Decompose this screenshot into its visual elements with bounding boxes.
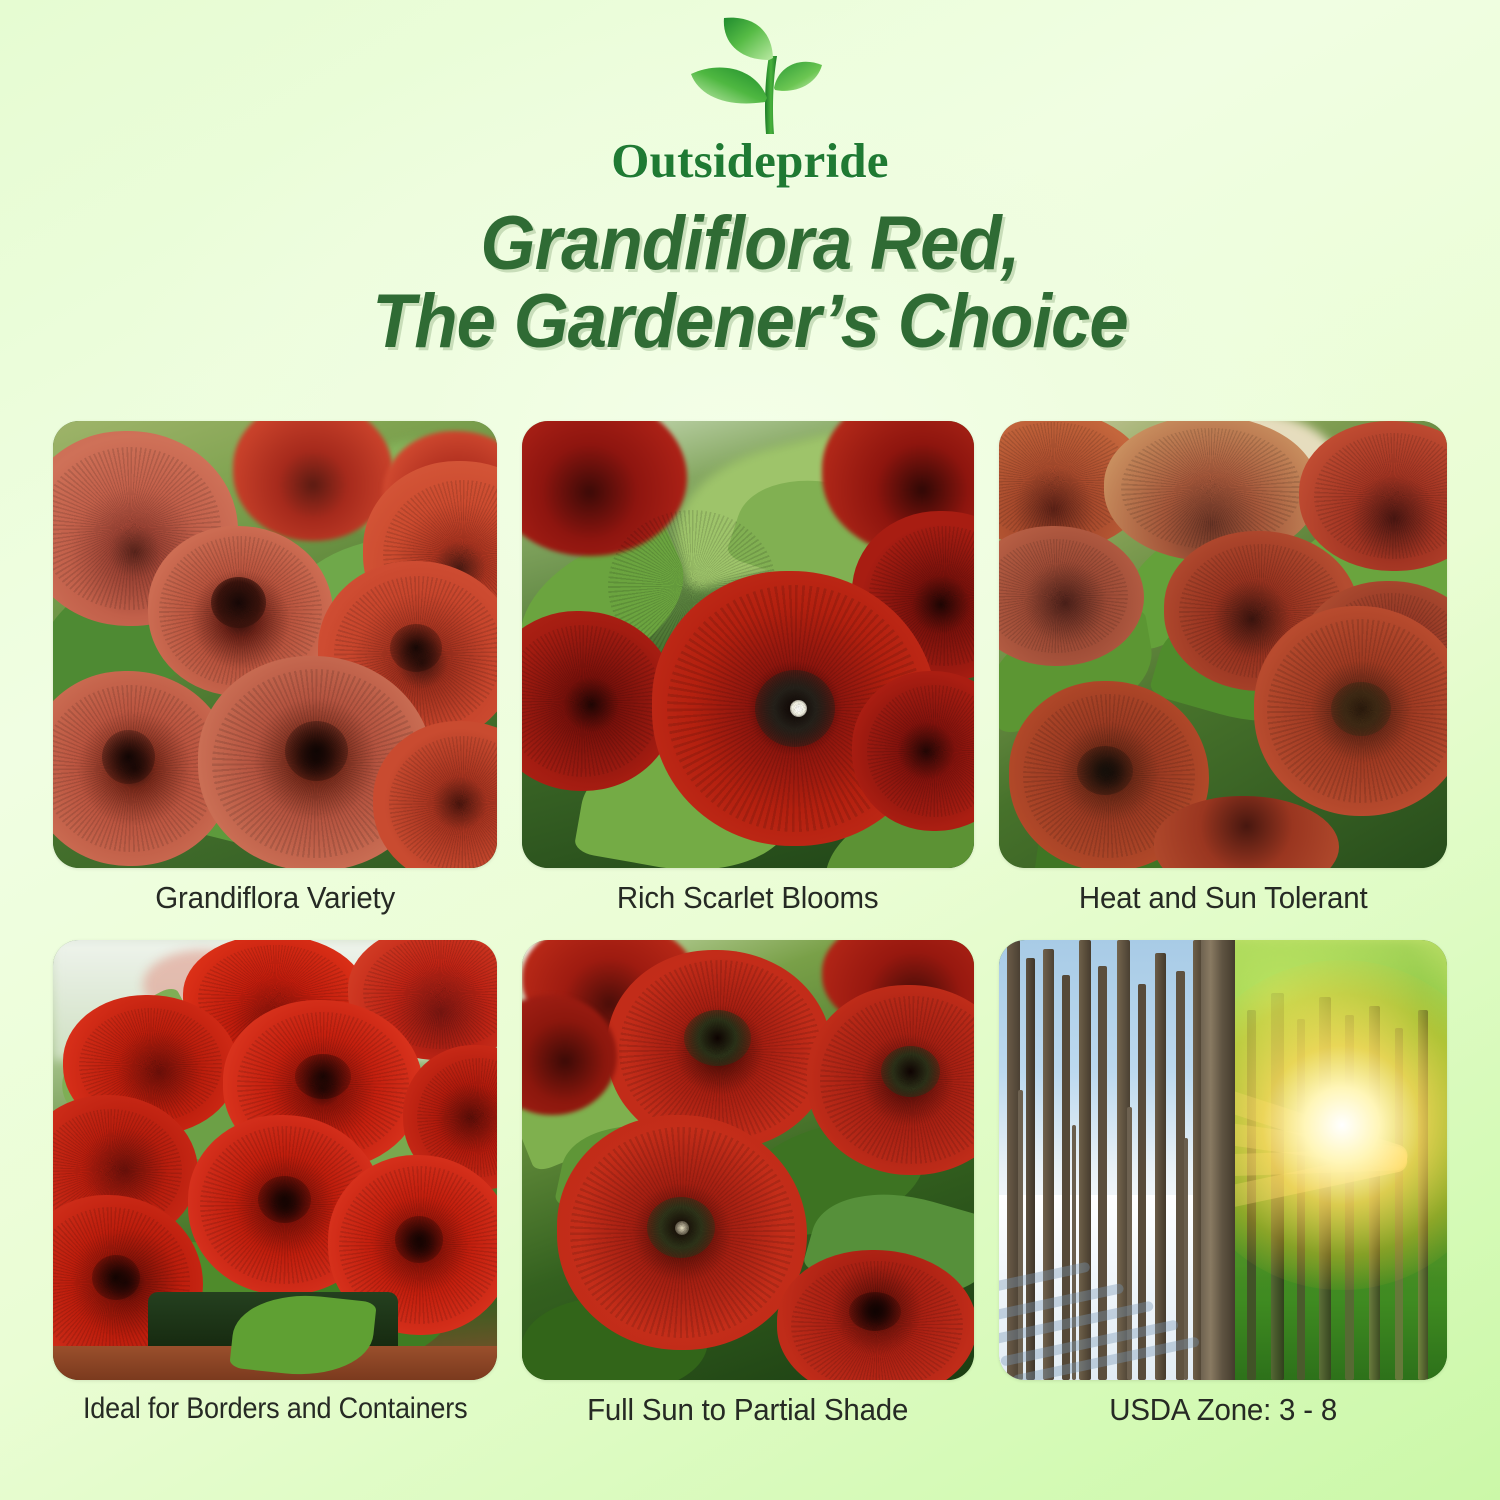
caption-heat-and-sun-tolerant: Heat and Sun Tolerant bbox=[1010, 880, 1436, 916]
title-line-1: Grandiflora Red, bbox=[53, 205, 1448, 283]
caption-rich-scarlet-blooms: Rich Scarlet Blooms bbox=[534, 880, 963, 916]
caption-usda-zone: USDA Zone: 3 - 8 bbox=[1010, 1392, 1436, 1428]
page-title: Grandiflora Red, The Gardener’s Choice bbox=[53, 205, 1448, 362]
caption-borders-and-containers: Ideal for Borders and Containers bbox=[75, 1392, 475, 1426]
gallery-row-1: Grandiflora Variety bbox=[53, 421, 1447, 916]
photo-brick-red-petunias-in-sun bbox=[999, 421, 1447, 868]
summer-forest-half bbox=[1209, 940, 1447, 1380]
gallery-cell-heat-and-sun-tolerant: Heat and Sun Tolerant bbox=[999, 421, 1447, 916]
infographic-page: Outsidepride Grandiflora Red, The Garden… bbox=[0, 0, 1500, 1500]
title-line-2: The Gardener’s Choice bbox=[53, 283, 1448, 361]
gallery-cell-full-sun-partial-shade: Full Sun to Partial Shade bbox=[522, 940, 973, 1428]
gallery-row-2: Ideal for Borders and Containers bbox=[53, 940, 1447, 1428]
gallery-cell-borders-and-containers: Ideal for Borders and Containers bbox=[53, 940, 497, 1428]
brand-name: Outsidepride bbox=[611, 132, 888, 189]
gallery-cell-rich-scarlet-blooms: Rich Scarlet Blooms bbox=[522, 421, 973, 916]
photo-red-petunia-grandiflora-closeup bbox=[53, 421, 497, 868]
photo-red-petunias-full-sun bbox=[522, 940, 973, 1380]
gallery-cell-usda-zone: USDA Zone: 3 - 8 bbox=[999, 940, 1447, 1428]
gallery-cell-grandiflora-variety: Grandiflora Variety bbox=[53, 421, 497, 916]
caption-full-sun-partial-shade: Full Sun to Partial Shade bbox=[534, 1392, 963, 1428]
photo-deep-scarlet-petunia-bloom bbox=[522, 421, 973, 868]
feature-gallery: Grandiflora Variety bbox=[53, 421, 1447, 1428]
photo-red-petunias-in-container bbox=[53, 940, 497, 1380]
winter-forest-half bbox=[999, 940, 1210, 1380]
caption-grandiflora-variety: Grandiflora Variety bbox=[64, 880, 486, 916]
photo-winter-summer-forest-split bbox=[999, 940, 1447, 1380]
brand-header: Outsidepride bbox=[0, 14, 1500, 190]
seedling-leaf-icon bbox=[665, 16, 835, 138]
